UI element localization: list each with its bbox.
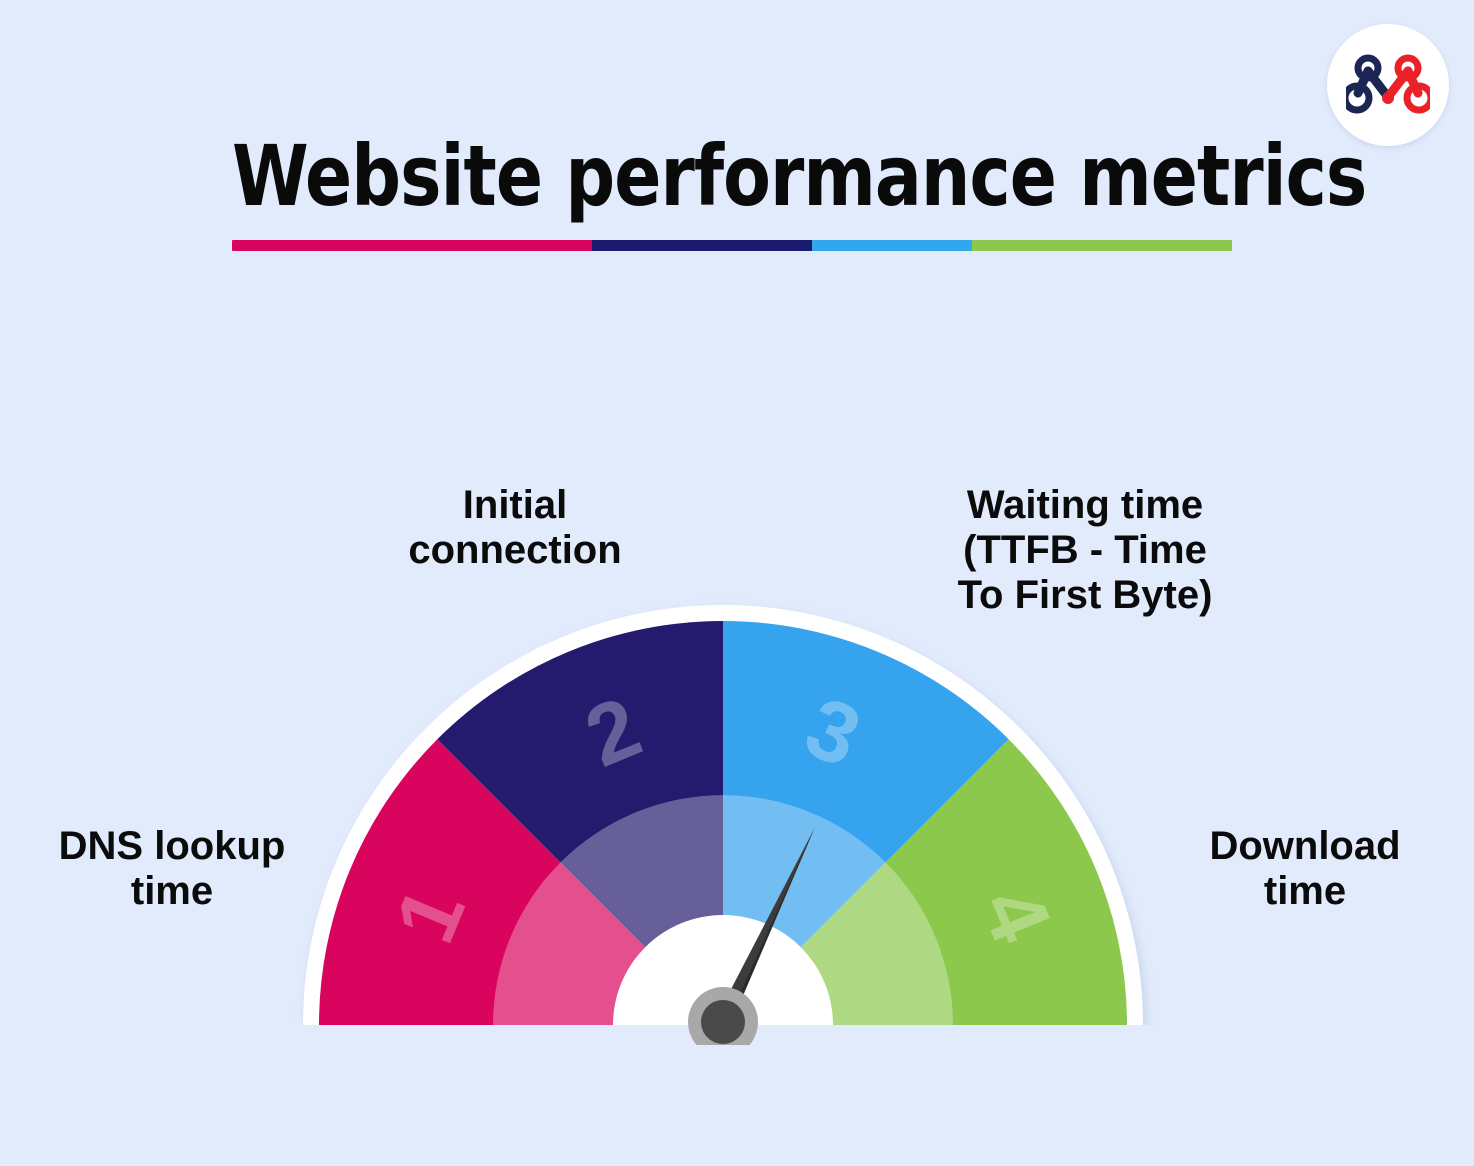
gauge-label-initial-connection: Initial connection (345, 483, 685, 573)
gauge-label-download-time: Download time (1155, 824, 1455, 914)
title-underline-rule (232, 240, 1232, 251)
gauge-number-3: 3 (792, 679, 873, 786)
gauge-segment-2 (437, 621, 723, 1025)
page-title: Website performance metrics (232, 128, 1161, 224)
gauge-segment-1 (319, 739, 723, 1025)
gauge-hub (688, 987, 758, 1045)
gauge-outer-rim (303, 605, 1143, 1025)
gauge-hub-disc (613, 915, 833, 1025)
gauge-number-4: 4 (962, 875, 1069, 956)
mangools-m-logo-icon (1346, 53, 1430, 117)
gauge-segments (319, 621, 1127, 1025)
gauge-number-1: 1 (377, 875, 484, 956)
title-block: Website performance metrics (232, 128, 1242, 251)
gauge-number-2: 2 (573, 679, 654, 786)
gauge-segment-3 (723, 621, 1009, 1025)
rule-segment-crimson (232, 240, 592, 251)
gauge-inner-tint (493, 795, 953, 1025)
rule-segment-green (972, 240, 1232, 251)
gauge-segment-4 (723, 739, 1127, 1025)
gauge-svg: 1 2 3 4 (283, 585, 1163, 1045)
gauge-label-waiting-time: Waiting time (TTFB - Time To First Byte) (925, 483, 1245, 617)
gauge-needle (669, 822, 822, 1045)
rule-segment-navy (592, 240, 812, 251)
gauge-segment-numbers: 1 2 3 4 (377, 679, 1070, 956)
rule-segment-blue (812, 240, 972, 251)
gauge-label-dns-lookup-time: DNS lookup time (22, 824, 322, 914)
